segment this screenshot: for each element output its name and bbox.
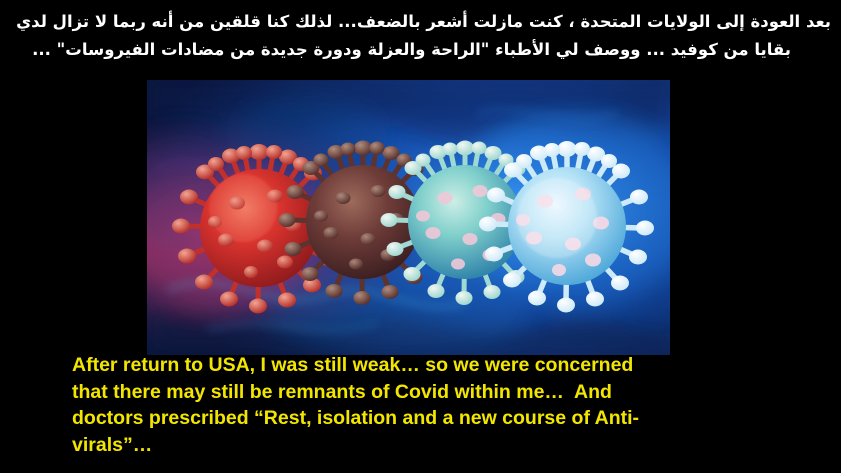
caption-line-3: doctors prescribed “Rest, isolation and … [72,405,832,432]
virus-image [147,80,670,355]
arabic-header: بعد العودة إلى الولايات المتحدة ، كنت ما… [0,8,841,64]
virus-illustration-svg [147,80,670,355]
caption-line-2: that there may still be remnants of Covi… [72,379,832,406]
arabic-header-line-1: بعد العودة إلى الولايات المتحدة ، كنت ما… [0,8,841,36]
caption-line-1: After return to USA, I was still weak… s… [72,352,832,379]
arabic-header-line-2: بقايا من كوفيد ... ووصف لي الأطباء "الرا… [0,36,841,64]
caption-line-4: virals”… [72,432,832,459]
presentation-slide: بعد العودة إلى الولايات المتحدة ، كنت ما… [0,0,841,473]
english-caption: After return to USA, I was still weak… s… [72,352,832,458]
